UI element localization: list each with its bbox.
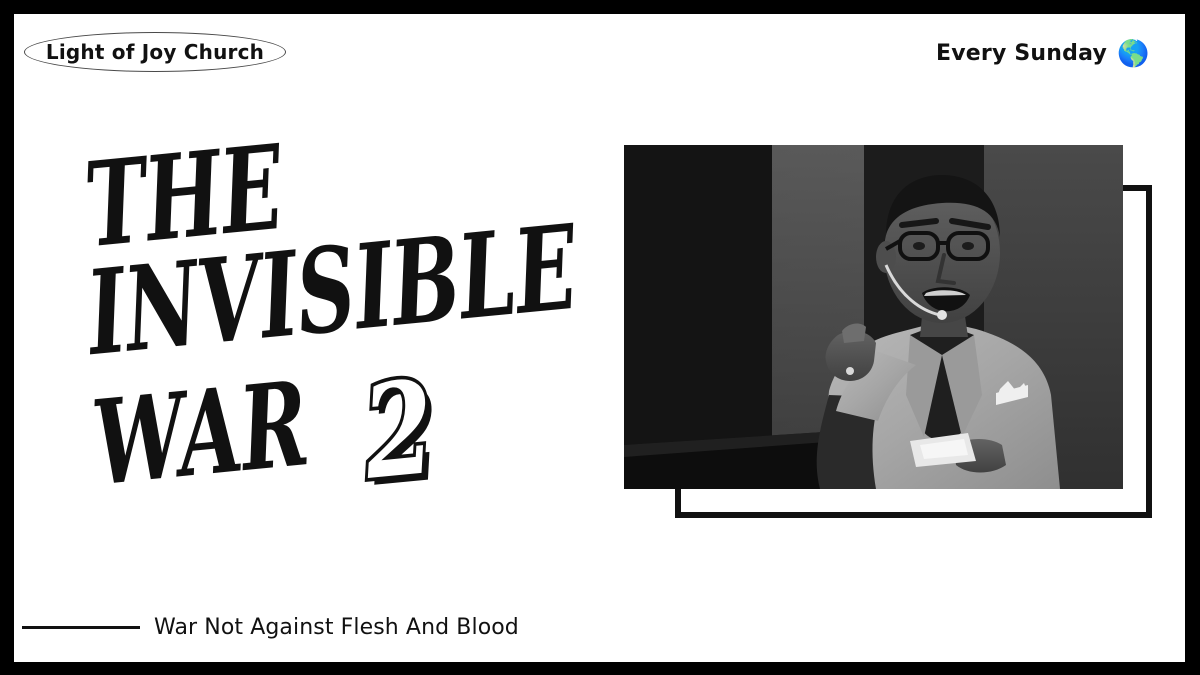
logo-text: Light of Joy Church — [24, 32, 286, 72]
footer-subtitle: War Not Against Flesh And Blood — [154, 615, 519, 640]
speaker-photo — [624, 145, 1123, 489]
headline-block: THE INVISIBLE WAR 2 — [66, 134, 626, 534]
schedule-label: Every Sunday — [936, 41, 1107, 66]
schedule-block: Every Sunday 🌎 — [936, 38, 1147, 68]
footer-block: War Not Against Flesh And Blood — [22, 615, 519, 640]
church-logo: Light of Joy Church — [24, 32, 286, 72]
headline-line-3: WAR — [87, 354, 313, 512]
globe-icon: 🌎 — [1117, 38, 1147, 68]
speaker-photo-illustration — [624, 145, 1123, 489]
footer-rule — [22, 626, 140, 629]
headline-series-number: 2 — [358, 363, 440, 497]
slide-canvas: Light of Joy Church Every Sunday 🌎 THE I… — [14, 14, 1185, 662]
sermon-slide: Light of Joy Church Every Sunday 🌎 THE I… — [0, 0, 1200, 675]
